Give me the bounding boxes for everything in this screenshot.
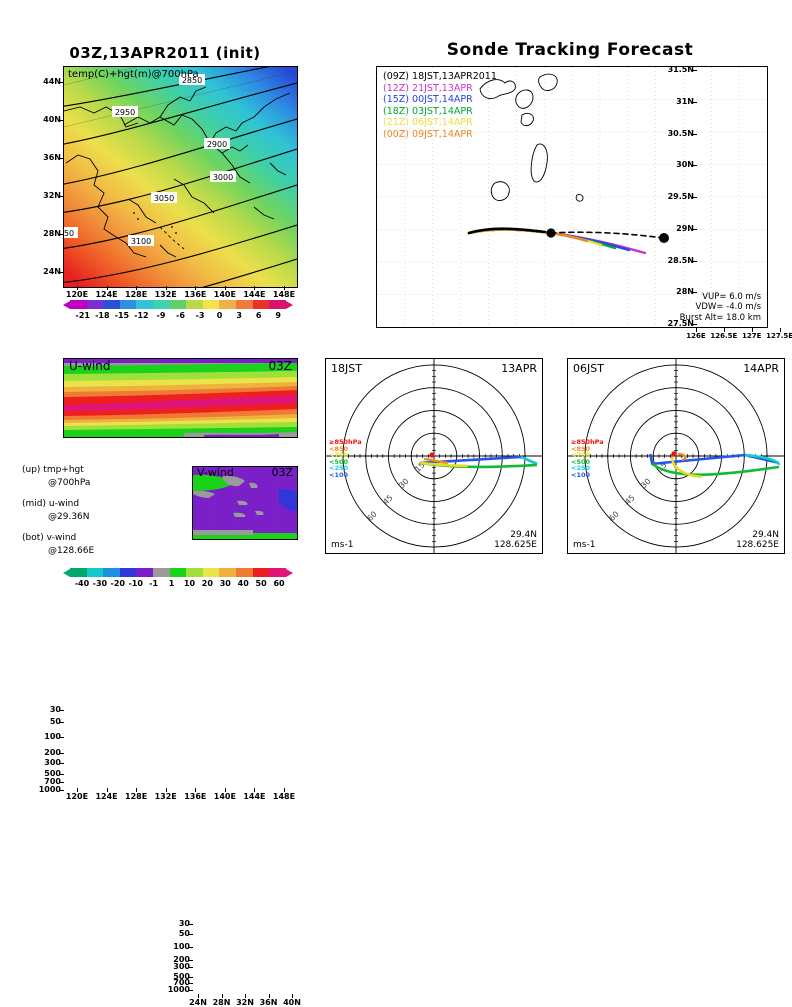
temp-color-swatch <box>170 300 187 309</box>
sonde-title: Sonde Tracking Forecast <box>360 40 780 60</box>
sonde-lon-tickmark <box>696 328 697 332</box>
vwind-pressure-tickmark <box>189 967 193 968</box>
sonde-lat-tickmark <box>693 197 697 198</box>
wind-color-swatch <box>70 568 87 577</box>
svg-text:60: 60 <box>607 509 620 522</box>
wind-color-swatch <box>103 568 120 577</box>
svg-text:3050: 3050 <box>154 194 174 203</box>
temp-color-swatch <box>186 300 203 309</box>
sonde-lat-tickmark <box>693 292 697 293</box>
uwind-lon-tickmark <box>195 788 196 792</box>
temp-color-swatch <box>253 300 270 309</box>
uwind-lon-tickmark <box>254 788 255 792</box>
svg-text:45: 45 <box>381 493 394 506</box>
uwind-pressure-tick: 300 <box>33 758 61 767</box>
hodograph-lon-label: 128.625E <box>494 540 537 550</box>
temp-color-swatch <box>236 300 253 309</box>
wind-color-swatch <box>136 568 153 577</box>
sonde-lat-tick: 29N <box>666 224 694 233</box>
uwind-pressure-tick: 50 <box>33 717 61 726</box>
temp-lat-tick: 32N <box>33 191 61 200</box>
vwind-pressure-tick: 1000 <box>162 985 190 994</box>
panel-note: (up) tmp+hgt@700hPa <box>22 464 152 490</box>
temp-lon-tick: 148E <box>262 290 306 299</box>
vwind-pressure-tickmark <box>189 934 193 935</box>
sonde-lat-tick: 31N <box>666 97 694 106</box>
panel-note: (bot) v-wind@128.66E <box>22 532 152 558</box>
uwind-pressure-tickmark <box>60 763 64 764</box>
temp-hgt-map[interactable]: 2850 2950 2900 3000 3050 3100 50 temp(C)… <box>63 66 298 288</box>
v-wind-section[interactable]: V-wind 03Z <box>192 466 298 540</box>
temp-color-swatch <box>269 300 286 309</box>
sonde-lat-tick: 30.5N <box>666 129 694 138</box>
u-wind-panel: U-wind 03Z 30501002003005007001000 120E1… <box>0 352 320 452</box>
pressure-level-label: <100 <box>571 472 604 479</box>
sonde-lon-tick: 128E <box>785 332 792 340</box>
wind-color-swatch <box>186 568 203 577</box>
sonde-lat-tickmark <box>693 102 697 103</box>
hodograph-lat-label: 29.4N <box>752 530 779 540</box>
temp-lon-tickmark <box>166 286 167 290</box>
hodograph-lat-label: 29.4N <box>510 530 537 540</box>
uwind-pressure-tickmark <box>60 737 64 738</box>
temp-hgt-panel: 03Z,13APR2011 (init) <box>0 0 320 350</box>
temp-lon-tickmark <box>195 286 196 290</box>
sonde-lat-tick: 31.5N <box>666 65 694 74</box>
uwind-lon-tickmark <box>284 788 285 792</box>
hodograph-unit-label: ms-1 <box>573 540 595 550</box>
vwind-pressure-tickmark <box>189 924 193 925</box>
svg-text:30: 30 <box>639 477 652 490</box>
uwind-lon-tickmark <box>225 788 226 792</box>
sonde-lon-tickmark <box>724 328 725 332</box>
v-wind-time: 03Z <box>271 466 293 479</box>
temp-color-swatch <box>203 300 220 309</box>
temp-hgt-contour-fill: 2850 2950 2900 3000 3050 3100 50 <box>64 67 297 287</box>
uwind-pressure-tickmark <box>60 722 64 723</box>
panel-note-tag: (bot) v-wind <box>22 532 152 545</box>
temp-lon-tickmark <box>284 286 285 290</box>
temp-color-swatch <box>103 300 120 309</box>
temp-lat-tickmark <box>60 196 64 197</box>
page-title: 03Z,13APR2011 (init) <box>20 44 310 62</box>
sonde-legend-row: (09Z) 18JST,13APR2011 <box>383 71 497 83</box>
temp-color-swatch <box>136 300 153 309</box>
temp-lon-tickmark <box>77 286 78 290</box>
u-wind-time: 03Z <box>269 359 293 373</box>
temperature-colorbar <box>63 300 298 310</box>
sonde-lon-tickmark <box>780 328 781 332</box>
hodograph-date-label: 14APR <box>743 362 779 375</box>
sonde-lon-tickmark <box>752 328 753 332</box>
pressure-level-label: <100 <box>329 472 362 479</box>
temp-hgt-overlay-label: temp(C)+hgt(m)@700hPa <box>68 69 199 80</box>
temp-lat-tickmark <box>60 120 64 121</box>
panel-note-tag: (mid) u-wind <box>22 498 152 511</box>
vwind-pressure-tickmark <box>189 960 193 961</box>
sonde-parameter: VDW= -4.0 m/s <box>680 302 761 313</box>
sonde-lat-tickmark <box>693 165 697 166</box>
sonde-lat-tick: 29.5N <box>666 192 694 201</box>
v-wind-panel: (up) tmp+hgt@700hPa(mid) u-wind@29.36N(b… <box>0 458 320 612</box>
temp-lon-tickmark <box>136 286 137 290</box>
temp-lon-tickmark <box>254 286 255 290</box>
uwind-pressure-tickmark <box>60 782 64 783</box>
temp-color-swatch <box>153 300 170 309</box>
temp-lon-tickmark <box>225 286 226 290</box>
vwind-pressure-tick: 50 <box>162 929 190 938</box>
v-wind-title: V-wind <box>197 466 234 479</box>
sonde-lat-tickmark <box>693 134 697 135</box>
panel-note-tag: (up) tmp+hgt <box>22 464 152 477</box>
uwind-lon-tickmark <box>77 788 78 792</box>
u-wind-section[interactable]: U-wind 03Z <box>63 358 298 438</box>
hodograph-unit-label: ms-1 <box>331 540 353 550</box>
uwind-pressure-tickmark <box>60 710 64 711</box>
temp-colorbar-label: 9 <box>264 311 292 320</box>
vwind-pressure-tick: 30 <box>162 919 190 928</box>
vwind-lat-tick: 40N <box>270 998 314 1007</box>
vwind-pressure-tick: 300 <box>162 962 190 971</box>
sonde-lat-tickmark <box>693 70 697 71</box>
sonde-lat-tick: 28.5N <box>666 256 694 265</box>
svg-text:2900: 2900 <box>207 140 227 149</box>
hodograph-time-label: 18JST <box>331 362 362 375</box>
panel-note: (mid) u-wind@29.36N <box>22 498 152 524</box>
uwind-pressure-tick: 30 <box>33 705 61 714</box>
wind-color-swatch <box>253 568 270 577</box>
temp-lat-tick: 36N <box>33 153 61 162</box>
u-wind-title: U-wind <box>69 359 110 373</box>
hodograph-pressure-legend: ≥850hPa<850<700<500<250<100 <box>329 439 362 479</box>
temp-lat-tick: 24N <box>33 267 61 276</box>
wind-colorbar <box>63 568 298 578</box>
temp-color-swatch <box>87 300 104 309</box>
vwind-pressure-tickmark <box>189 990 193 991</box>
wind-colorbar-ticks: -40-30-20-10-11102030405060 <box>63 579 298 591</box>
hodograph-2[interactable]: 15304560 06JST14APRms-129.4N128.625E≥850… <box>567 358 785 554</box>
wind-color-swatch <box>120 568 137 577</box>
hodograph-time-label: 06JST <box>573 362 604 375</box>
sonde-lat-tick: 28N <box>666 287 694 296</box>
wind-color-swatch <box>269 568 286 577</box>
uwind-pressure-tick: 200 <box>33 748 61 757</box>
wind-color-swatch <box>203 568 220 577</box>
temp-lon-tickmark <box>107 286 108 290</box>
sonde-legend-row: (21Z) 06JST,14APR <box>383 117 497 129</box>
temp-lat-tick: 28N <box>33 229 61 238</box>
svg-text:3100: 3100 <box>131 237 151 246</box>
panel-note-sub: @29.36N <box>22 511 152 524</box>
hodograph-1[interactable]: 15304560 18JST13APRms-129.4N128.625E≥850… <box>325 358 543 554</box>
sonde-lat-tickmark <box>693 324 697 325</box>
temp-color-swatch <box>219 300 236 309</box>
hodograph-pressure-legend: ≥850hPa<850<700<500<250<100 <box>571 439 604 479</box>
sonde-lat-tick: 30N <box>666 160 694 169</box>
sonde-legend: (09Z) 18JST,13APR2011(12Z) 21JST,13APR(1… <box>383 71 497 140</box>
temp-lat-tickmark <box>60 234 64 235</box>
uwind-pressure-tick: 100 <box>33 732 61 741</box>
temp-lat-tickmark <box>60 82 64 83</box>
panel-note-sub: @700hPa <box>22 477 152 490</box>
uwind-lon-tickmark <box>107 788 108 792</box>
hodograph-lon-label: 128.625E <box>736 540 779 550</box>
wind-color-swatch <box>170 568 187 577</box>
uwind-lon-tickmark <box>166 788 167 792</box>
sonde-lat-tick: 27.5N <box>666 319 694 328</box>
uwind-lon-tickmark <box>136 788 137 792</box>
temperature-colorbar-ticks: -21-18-15-12-9-6-30369 <box>63 311 298 323</box>
svg-text:30: 30 <box>397 477 410 490</box>
vwind-pressure-tick: 100 <box>162 942 190 951</box>
uwind-pressure-tickmark <box>60 790 64 791</box>
temp-lat-tick: 44N <box>33 77 61 86</box>
temp-color-swatch <box>70 300 87 309</box>
temp-lat-tickmark <box>60 158 64 159</box>
wind-colorbar-label: 60 <box>265 579 293 588</box>
sonde-legend-row: (15Z) 00JST,14APR <box>383 94 497 106</box>
temp-lat-tick: 40N <box>33 115 61 124</box>
uwind-pressure-tickmark <box>60 774 64 775</box>
sonde-map[interactable]: (09Z) 18JST,13APR2011(12Z) 21JST,13APR(1… <box>376 66 768 328</box>
vwind-lat-tickmark <box>292 994 293 998</box>
svg-text:50: 50 <box>64 229 74 238</box>
sonde-legend-row: (00Z) 09JST,14APR <box>383 129 497 141</box>
svg-text:45: 45 <box>623 493 636 506</box>
hodograph-date-label: 13APR <box>501 362 537 375</box>
sonde-legend-row: (18Z) 03JST,14APR <box>383 106 497 118</box>
wind-color-swatch <box>219 568 236 577</box>
panel-note-sub: @128.66E <box>22 545 152 558</box>
wind-color-swatch <box>87 568 104 577</box>
wind-color-swatch <box>153 568 170 577</box>
sonde-legend-row: (12Z) 21JST,13APR <box>383 83 497 95</box>
svg-text:2950: 2950 <box>115 108 135 117</box>
vwind-pressure-tickmark <box>189 947 193 948</box>
hodograph-panels: 15304560 18JST13APRms-129.4N128.625E≥850… <box>325 358 785 558</box>
svg-text:60: 60 <box>365 509 378 522</box>
sonde-tracking-panel: Sonde Tracking Forecast <box>320 0 792 352</box>
svg-text:3000: 3000 <box>213 173 233 182</box>
uwind-pressure-tickmark <box>60 753 64 754</box>
temp-color-swatch <box>120 300 137 309</box>
temp-lat-tickmark <box>60 272 64 273</box>
sonde-lat-tickmark <box>693 229 697 230</box>
panel-description-notes: (up) tmp+hgt@700hPa(mid) u-wind@29.36N(b… <box>22 464 152 566</box>
uwind-lon-tick: 148E <box>262 792 306 801</box>
wind-color-swatch <box>236 568 253 577</box>
sonde-lat-tickmark <box>693 261 697 262</box>
